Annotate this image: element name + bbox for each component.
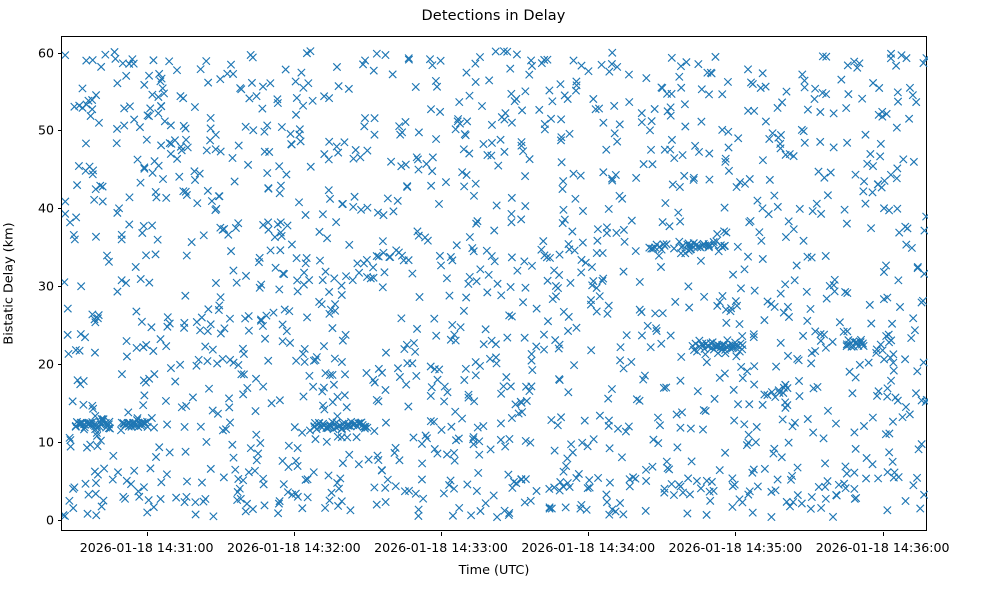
scatter-points-layer: [62, 37, 928, 532]
y-tick-mark: [58, 53, 62, 54]
y-tick-label: 50: [38, 123, 54, 138]
y-tick-mark: [58, 520, 62, 521]
x-tick-mark: [294, 532, 295, 536]
y-axis-label: Bistatic Delay (km): [0, 36, 18, 531]
y-tick-label: 10: [38, 434, 54, 449]
x-axis-label: Time (UTC): [61, 563, 927, 578]
x-tick-mark: [147, 532, 148, 536]
y-tick-label: 20: [38, 356, 54, 371]
y-tick-label: 30: [38, 279, 54, 294]
y-tick-mark: [58, 442, 62, 443]
y-tick-mark: [58, 130, 62, 131]
y-tick-mark: [58, 208, 62, 209]
x-tick-label: 2026-01-18 14:33:00: [374, 540, 508, 555]
y-tick-label: 0: [46, 512, 54, 527]
y-tick-mark: [58, 286, 62, 287]
x-tick-mark: [441, 532, 442, 536]
x-tick-mark: [735, 532, 736, 536]
chart-title: Detections in Delay: [0, 8, 987, 24]
y-axis-label-text: Bistatic Delay (km): [2, 222, 17, 344]
x-tick-label: 2026-01-18 14:31:00: [80, 540, 214, 555]
x-tick-mark: [588, 532, 589, 536]
x-tick-label: 2026-01-18 14:35:00: [669, 540, 803, 555]
y-tick-label: 40: [38, 201, 54, 216]
plot-area: 0102030405060 2026-01-18 14:31:002026-01…: [61, 36, 927, 531]
chart-figure: Detections in Delay Bistatic Delay (km) …: [0, 0, 987, 590]
x-tick-label: 2026-01-18 14:36:00: [816, 540, 950, 555]
y-tick-label: 60: [38, 45, 54, 60]
x-tick-label: 2026-01-18 14:34:00: [521, 540, 655, 555]
y-tick-mark: [58, 364, 62, 365]
x-tick-mark: [883, 532, 884, 536]
x-tick-label: 2026-01-18 14:32:00: [227, 540, 361, 555]
